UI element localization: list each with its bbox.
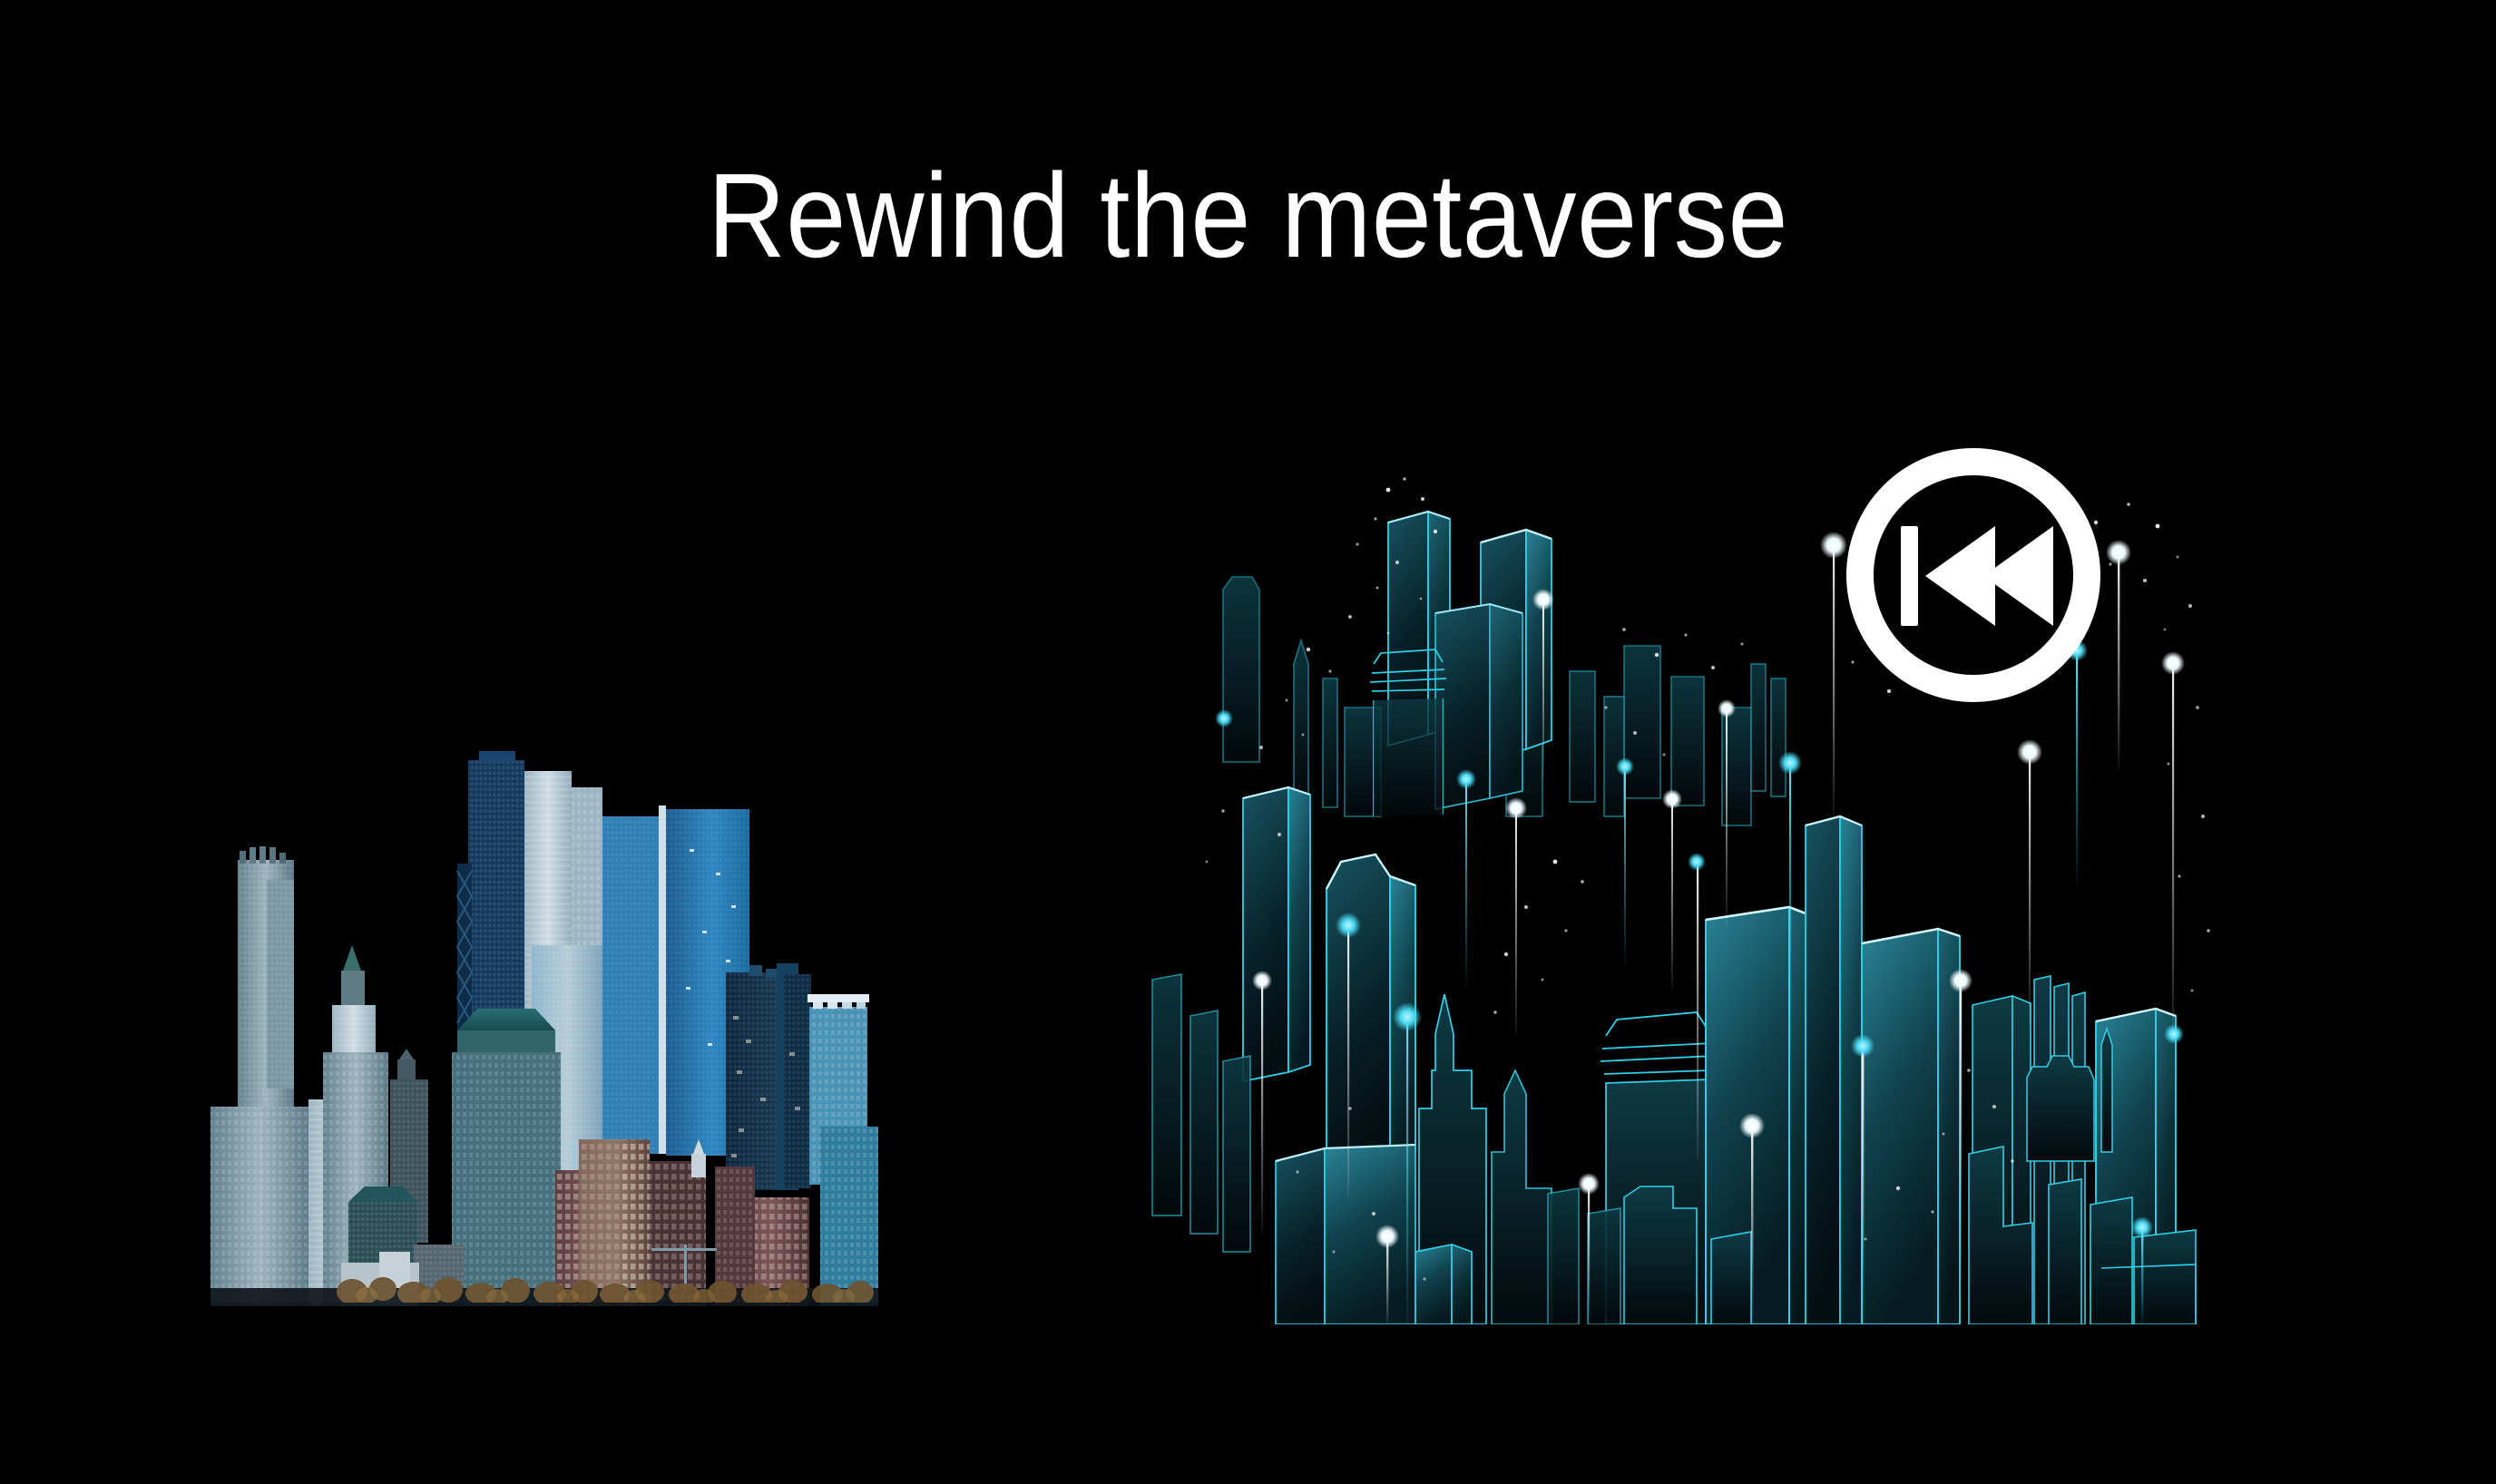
presentation-slide: Rewind the metaverse [0, 0, 2496, 1484]
real-city-photograph [189, 744, 896, 1306]
page-title: Rewind the metaverse [125, 156, 2372, 276]
rewind-to-start-icon[interactable] [1845, 446, 2102, 704]
